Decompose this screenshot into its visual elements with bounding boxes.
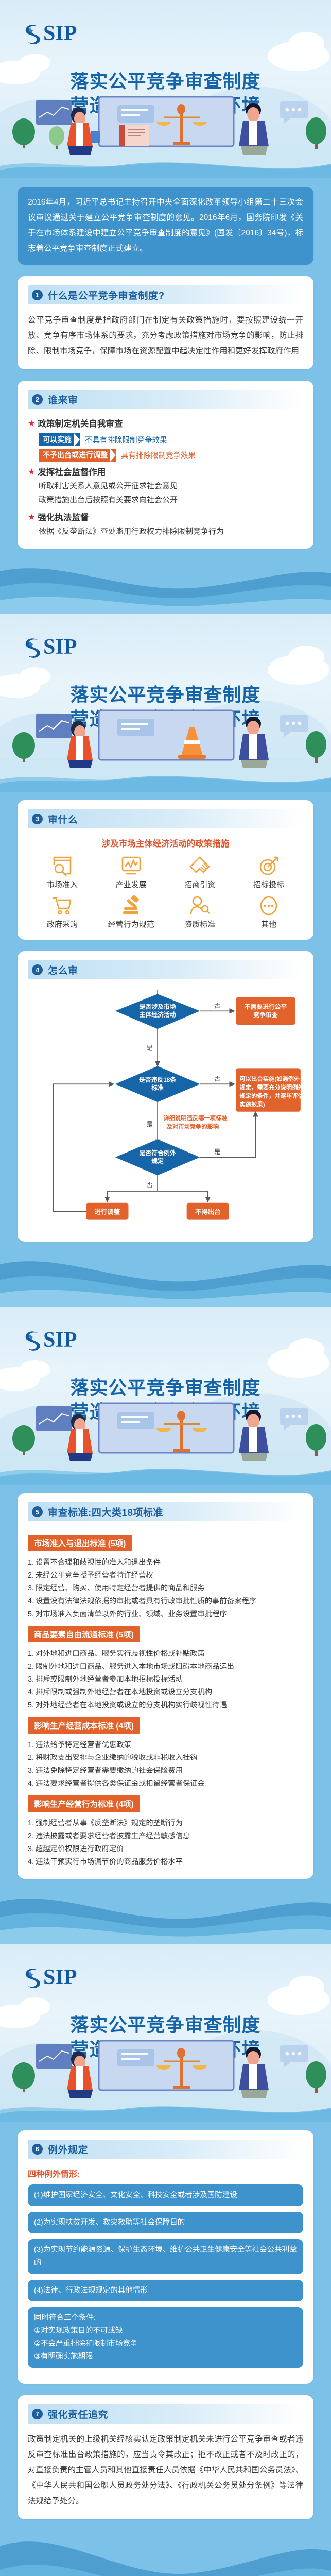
chat-bubble-icon bbox=[280, 101, 308, 124]
content-block-3: 5 审查标准:四大类18项标准 市场准入与退出标准 (5项) 1.设置不合理和歧… bbox=[0, 1461, 331, 1944]
star-item: ★ 政策制定机关自我审查 bbox=[28, 417, 303, 431]
icon-label: 招标投标 bbox=[253, 879, 284, 890]
ribbon-tag-allowed: 可以实施 bbox=[39, 433, 80, 446]
sub-line: 听取利害关系人意见或公开征求社会意见 bbox=[28, 479, 303, 493]
standards-item: 2.将财政支出安排与企业缴纳的税收或非税收入挂钩 bbox=[28, 1752, 303, 1765]
star-icon: ★ bbox=[28, 417, 35, 431]
flow-output-no-review-line2: 竞争审查 bbox=[253, 1012, 277, 1019]
section-header-1: 1 什么是公平竞争审查制度? bbox=[28, 285, 303, 304]
section-card-7: 7 强化责任追究 政策制定机关的上级机关经核实认定政策制定机关未进行公平竞争审查… bbox=[18, 2395, 313, 2519]
flow-output-adjust-label: 进行调整 bbox=[95, 1208, 120, 1215]
section-header-4: 4 怎么审 bbox=[28, 960, 303, 979]
flow-decision-1-line2: 主体经济活动 bbox=[140, 1011, 176, 1019]
ribbon-row: 不予出台或进行调整 具有排除限制竞争效果 bbox=[28, 449, 303, 462]
standards-item: 3.违法免除特定经营者需要缴纳的社会保险费用 bbox=[28, 1765, 303, 1777]
chart-window-icon bbox=[36, 1406, 72, 1431]
sip-s-logo-icon bbox=[24, 637, 42, 657]
section-title-7: 强化责任追究 bbox=[48, 2407, 108, 2421]
standards-item: 4.设置没有法律法规依据的审批或者具有行政审批性质的事前备案程序 bbox=[28, 1595, 303, 1608]
chart-window-icon bbox=[36, 714, 72, 738]
wave-divider-top-4 bbox=[0, 2098, 331, 2122]
standards-item: 2.未经公平竞争授予经营者特许经营权 bbox=[28, 1569, 303, 1582]
standards-item: 3.限定经营、购买、使用特定经营者提供的商品和服务 bbox=[28, 1582, 303, 1595]
icon-label: 资质标准 bbox=[184, 919, 215, 929]
content-block-2: 3 审什么 涉及市场主体经济活动的政策措施 市场准入 bbox=[0, 768, 331, 1307]
section-number-1: 1 bbox=[32, 290, 43, 300]
chat-bubble-icon bbox=[280, 1408, 308, 1430]
sip-s-logo-icon bbox=[24, 1330, 42, 1350]
standards-group-tag: 影响生产经营行为标准 (4项) bbox=[28, 1795, 140, 1812]
flow-decision-3-line1: 是否符合例外 bbox=[139, 1149, 176, 1157]
section-card-1: 1 什么是公平竞争审查制度? 公平竞争审查制度是指政府部门在制定有关政策措施时，… bbox=[18, 276, 313, 369]
section-header-6: 6 例外规定 bbox=[28, 2140, 303, 2159]
flow-label-yes-1: 是 bbox=[146, 1044, 152, 1052]
flow-output-forbid-label: 不得出台 bbox=[195, 1208, 220, 1215]
sub-line: 政策措施出台后按照有关要求向社会公开 bbox=[28, 493, 303, 507]
wave-divider-bottom-1 bbox=[0, 560, 331, 614]
content-block-4: 6 例外规定 四种例外情形: (1)维护国家经济安全、文化安全、科技安全或者涉及… bbox=[0, 2098, 331, 2576]
person-man-illustration bbox=[239, 103, 269, 155]
sip-logo-text: SIP bbox=[43, 636, 77, 658]
books-icon bbox=[119, 125, 149, 146]
flow-decision-1: 是否涉及市场 主体经济活动 bbox=[115, 994, 200, 1029]
flow-note-line2: 及对市场竞争的影响 bbox=[167, 1123, 219, 1130]
icon-label: 产业发展 bbox=[116, 879, 147, 890]
monitor-icon bbox=[99, 710, 234, 760]
flow-output-allow: 可以出台实施(如遇例外 规定，需要充分说明例外 规定的条件，并逐年评估 实施效果… bbox=[236, 1068, 303, 1111]
ribbon-desc-allowed: 不具有排除限制竞争效果 bbox=[85, 434, 167, 445]
section-header-2: 2 谁来审 bbox=[28, 390, 303, 409]
flow-label-no-1: 否 bbox=[214, 1002, 220, 1009]
section-3-caption: 涉及市场主体经济活动的政策措施 bbox=[28, 837, 303, 849]
standards-item: 4.违法要求经营者提供各类保证金或扣留经营者保证金 bbox=[28, 1777, 303, 1790]
chat-bubble-icon bbox=[280, 715, 308, 737]
flow-label-no-3: 否 bbox=[146, 1181, 152, 1189]
section-number-4: 4 bbox=[32, 964, 43, 975]
chart-window-icon bbox=[36, 100, 72, 125]
wave-divider-bottom-2 bbox=[0, 1253, 331, 1307]
standards-item: 4.违法干预实行市场调节价的商品服务价格水平 bbox=[28, 1856, 303, 1869]
icon-label: 政府采购 bbox=[47, 919, 78, 929]
section-number-2: 2 bbox=[32, 394, 43, 405]
section-number-5: 5 bbox=[32, 1506, 43, 1517]
person-man-illustration bbox=[239, 717, 269, 768]
icon-cell-procurement: 政府采购 bbox=[28, 895, 97, 929]
section-title-1: 什么是公平竞争审查制度? bbox=[48, 288, 165, 302]
section-header-7: 7 强化责任追究 bbox=[28, 2404, 303, 2424]
exception-caption: 四种例外情形: bbox=[28, 2167, 303, 2179]
standards-item: 2.限制外地和进口商品、服务进入本地市场或阻碍本地商品运出 bbox=[28, 1660, 303, 1673]
condition-item-1: ①对实现政策目的不可或缺 bbox=[34, 2325, 297, 2337]
flow-decision-1-line1: 是否涉及市场 bbox=[139, 1003, 176, 1010]
standards-group: 市场准入与退出标准 (5项) 1.设置不合理和歧视性的准入和退出条件 2.未经公… bbox=[28, 1530, 303, 1621]
wave-divider-top-2 bbox=[0, 768, 331, 792]
intro-card: 2016年4月，习近平总书记主持召开中央全面深化改革领导小组第二十三次会议审议通… bbox=[18, 187, 313, 265]
standards-list: 1.设置不合理和歧视性的准入和退出条件 2.未经公平竞争授予经营者特许经营权 3… bbox=[28, 1556, 303, 1621]
standards-item: 4.排斥限制或强制外地经营者在本地投资或设立分支机构 bbox=[28, 1686, 303, 1699]
wave-divider-top-1 bbox=[0, 155, 331, 178]
section-card-4: 4 怎么审 bbox=[18, 951, 313, 1242]
icon-cell-conduct-rules: 经营行为规范 bbox=[97, 895, 166, 929]
review-flowchart: 是否涉及市场 主体经济活动 否 是 不需要进行公平 竞争审查 是否违反18条 bbox=[28, 988, 303, 1231]
ribbon-desc-rejected: 具有排除限制竞争效果 bbox=[121, 450, 196, 461]
flow-output-allow-line4: 实施效果) bbox=[240, 1100, 265, 1108]
person-search-icon bbox=[188, 895, 211, 917]
flow-output-allow-line3: 规定的条件，并逐年评估 bbox=[240, 1092, 303, 1099]
flow-output-allow-line1: 可以出台实施(如遇例外 bbox=[240, 1075, 300, 1082]
star-item: ★ 强化执法监督 bbox=[28, 511, 303, 524]
standards-item: 2.违法披露或者要求经营者披露生产经营敏感信息 bbox=[28, 1830, 303, 1843]
condition-item-2: ②不会严重排除和限制市场竞争 bbox=[34, 2337, 297, 2350]
hero-title-line1: 落实公平竞争审查制度 bbox=[0, 69, 331, 93]
infographic-page: SIP 落实公平竞争审查制度 营造公平竞争市场环境 bbox=[0, 0, 331, 2576]
hero-banner-2: SIP 落实公平竞争审查制度 营造公平竞争市场环境 bbox=[0, 614, 331, 768]
chat-bubble-icon bbox=[280, 2045, 308, 2067]
exception-pill-4: (4)法律、行政法规规定的其他情形 bbox=[28, 2280, 303, 2301]
flow-decision-2: 是否违反18条 标准 bbox=[115, 1066, 200, 1102]
standards-list: 1.对外地和进口商品、服务实行歧视性价格或补贴政策 2.限制外地和进口商品、服务… bbox=[28, 1648, 303, 1712]
icon-cell-qualification: 资质标准 bbox=[166, 895, 235, 929]
standards-item: 5.对外地经营者在本地投资或设立的分支机构实行歧视性待遇 bbox=[28, 1699, 303, 1712]
section-card-6: 6 例外规定 四种例外情形: (1)维护国家经济安全、文化安全、科技安全或者涉及… bbox=[18, 2130, 313, 2384]
flow-output-forbid: 不得出台 bbox=[187, 1203, 229, 1220]
standards-group: 影响生产经营行为标准 (4项) 1.强制经营者从事《反垄断法》规定的垄断行为 2… bbox=[28, 1790, 303, 1869]
section-number-7: 7 bbox=[32, 2409, 43, 2419]
flow-decision-3: 是否符合例外 规定 bbox=[115, 1139, 200, 1175]
icon-cell-investment: 招商引资 bbox=[166, 855, 235, 890]
sip-logo-text: SIP bbox=[43, 1967, 77, 1988]
section-card-3: 3 审什么 涉及市场主体经济活动的政策措施 市场准入 bbox=[18, 800, 313, 940]
gavel-icon bbox=[120, 895, 143, 917]
flow-label-no-2: 否 bbox=[214, 1075, 220, 1082]
person-man-illustration bbox=[239, 2047, 269, 2098]
ribbon-row: 可以实施 不具有排除限制竞争效果 bbox=[28, 433, 303, 446]
sip-logo: SIP bbox=[24, 1967, 77, 1988]
standards-group-tag: 市场准入与退出标准 (5项) bbox=[28, 1535, 132, 1551]
standards-group-tag: 商品要素自由流通标准 (5项) bbox=[28, 1626, 140, 1642]
section-card-2: 2 谁来审 ★ 政策制定机关自我审查 可以实施 不具有排除限制竞争效果 不予出台… bbox=[18, 381, 313, 549]
section-header-3: 3 审什么 bbox=[28, 809, 303, 828]
exception-pill-1: (1)维护国家经济安全、文化安全、科技安全或者涉及国防建设 bbox=[28, 2184, 303, 2206]
wave-divider-top-3 bbox=[0, 1461, 331, 1485]
icon-label: 经营行为规范 bbox=[108, 919, 154, 929]
star-icon: ★ bbox=[28, 511, 35, 524]
standards-item: 5.对市场准入负面清单以外的行业、领域、业务设置审批程序 bbox=[28, 1608, 303, 1621]
icon-cell-industry-growth: 产业发展 bbox=[97, 855, 166, 890]
standards-item: 1.对外地和进口商品、服务实行歧视性价格或补贴政策 bbox=[28, 1648, 303, 1660]
section-1-body: 公平竞争审查制度是指政府部门在制定有关政策措施时，要按照建设统一开放、竞争有序市… bbox=[28, 313, 303, 359]
flow-output-adjust: 进行调整 bbox=[86, 1203, 128, 1220]
icon-cell-other: 其他 bbox=[234, 895, 303, 929]
ellipsis-circle-icon bbox=[257, 895, 280, 917]
flow-output-no-review: 不需要进行公平 竞争审查 bbox=[236, 997, 295, 1025]
icon-cell-market-entry: 市场准入 bbox=[28, 855, 97, 890]
flow-decision-3-line2: 规定 bbox=[151, 1158, 164, 1165]
flow-label-yes-2: 是 bbox=[146, 1121, 152, 1128]
icon-label: 其他 bbox=[261, 919, 276, 929]
sip-s-logo-icon bbox=[24, 1967, 42, 1988]
standards-item: 1.设置不合理和歧视性的准入和退出条件 bbox=[28, 1556, 303, 1569]
sip-logo: SIP bbox=[24, 636, 77, 658]
flowchart-svg: 是否涉及市场 主体经济活动 否 是 不需要进行公平 竞争审查 是否违反18条 bbox=[28, 988, 303, 1231]
hero-illustration-1 bbox=[0, 93, 331, 155]
star-item-label: 强化执法监督 bbox=[38, 511, 89, 524]
hero-illustration-4 bbox=[0, 2037, 331, 2098]
exception-pill-3: (3)为实现节约能源资源、保护生态环境、维护公共卫生健康安全等社会公共利益的 bbox=[28, 2239, 303, 2274]
market-entry-icon bbox=[51, 855, 74, 877]
standards-item: 1.违法给予特定经营者优惠政策 bbox=[28, 1739, 303, 1752]
star-item: ★ 发挥社会监督作用 bbox=[28, 466, 303, 479]
standards-group: 商品要素自由流通标准 (5项) 1.对外地和进口商品、服务实行歧视性价格或补贴政… bbox=[28, 1621, 303, 1712]
icon-cell-bidding: 招标投标 bbox=[234, 855, 303, 890]
intro-text: 2016年4月，习近平总书记主持召开中央全面深化改革领导小组第二十三次会议审议通… bbox=[28, 195, 303, 257]
standards-group: 影响生产经营成本标准 (4项) 1.违法给予特定经营者优惠政策 2.将财政支出安… bbox=[28, 1712, 303, 1790]
conditions-title: 同时符合三个条件: bbox=[34, 2312, 297, 2325]
wave-divider-bottom-4 bbox=[0, 2531, 331, 2576]
section-title-6: 例外规定 bbox=[48, 2142, 88, 2156]
flow-decision-2-line1: 是否违反18条 bbox=[138, 1076, 176, 1083]
sip-logo: SIP bbox=[24, 1329, 77, 1351]
section-title-2: 谁来审 bbox=[48, 393, 78, 406]
flow-output-allow-line2: 规定，需要充分说明例外 bbox=[240, 1084, 303, 1091]
industry-growth-chart-icon bbox=[120, 855, 143, 877]
section-title-5: 审查标准:四大类18项标准 bbox=[48, 1505, 163, 1519]
hero-title-line1: 落实公平竞争审查制度 bbox=[0, 683, 331, 707]
sip-logo-text: SIP bbox=[43, 1329, 77, 1351]
section-7-body: 政策制定机关的上级机关经核实认定政策制定机关未进行公平竞争审查或者违反审查标准出… bbox=[28, 2432, 303, 2509]
flow-label-yes-3: 是 bbox=[214, 1148, 220, 1156]
ribbon-tag-rejected: 不予出台或进行调整 bbox=[39, 449, 116, 462]
hero-banner-1: SIP 落实公平竞争审查制度 营造公平竞争市场环境 bbox=[0, 0, 331, 155]
wave-divider-bottom-3 bbox=[0, 1890, 331, 1944]
hero-illustration-2 bbox=[0, 706, 331, 768]
flow-note-line1: 详细说明违反哪一项标准 bbox=[163, 1114, 227, 1122]
standards-item: 3.排斥或限制外地经营者参加本地招标投标活动 bbox=[28, 1673, 303, 1686]
content-block-1: 2016年4月，习近平总书记主持召开中央全面深化改革领导小组第二十三次会议审议通… bbox=[0, 155, 331, 614]
shopping-cart-icon bbox=[51, 895, 74, 917]
section-title-3: 审什么 bbox=[48, 812, 78, 826]
section-title-4: 怎么审 bbox=[48, 963, 78, 977]
section-header-5: 5 审查标准:四大类18项标准 bbox=[28, 1502, 303, 1521]
sub-line: 依据《反垄断法》查处滥用行政权力排除限制竞争行为 bbox=[28, 524, 303, 538]
condition-item-3: ③有明确实施期限 bbox=[34, 2350, 297, 2363]
target-arrow-icon bbox=[257, 855, 280, 877]
hero-title-line1: 落实公平竞争审查制度 bbox=[0, 1376, 331, 1400]
hero-banner-4: SIP 落实公平竞争审查制度 营造公平竞争市场环境 bbox=[0, 1944, 331, 2098]
sip-s-logo-icon bbox=[24, 23, 42, 44]
icon-label: 招商引资 bbox=[184, 879, 215, 890]
standards-list: 1.违法给予特定经营者优惠政策 2.将财政支出安排与企业缴纳的税收或非税收入挂钩… bbox=[28, 1739, 303, 1790]
section-number-6: 6 bbox=[32, 2144, 43, 2155]
exception-pill-2: (2)为实现扶贫开发、救灾救助等社会保障目的 bbox=[28, 2212, 303, 2233]
exception-conditions-pill: 同时符合三个条件: ①对实现政策目的不可或缺 ②不会严重排除和限制市场竞争 ③有… bbox=[28, 2307, 303, 2368]
hero-banner-3: SIP 落实公平竞争审查制度 营造公平竞争市场环境 bbox=[0, 1307, 331, 1461]
flow-decision-2-line2: 标准 bbox=[151, 1084, 164, 1092]
chart-window-icon bbox=[36, 2044, 72, 2069]
section-number-3: 3 bbox=[32, 814, 43, 824]
handshake-icon bbox=[188, 855, 211, 877]
icon-label: 市场准入 bbox=[47, 879, 78, 890]
star-item-label: 政策制定机关自我审查 bbox=[38, 417, 123, 431]
star-item-label: 发挥社会监督作用 bbox=[38, 466, 106, 479]
hero-title-line1: 落实公平竞争审查制度 bbox=[0, 2013, 331, 2037]
policy-icon-grid: 市场准入 产业发展 bbox=[28, 855, 303, 929]
flow-output-no-review-line1: 不需要进行公平 bbox=[245, 1003, 287, 1010]
standards-item: 3.超越定价权限进行政府定价 bbox=[28, 1843, 303, 1856]
sip-logo-text: SIP bbox=[43, 23, 77, 44]
sip-logo: SIP bbox=[24, 23, 77, 44]
standards-group-tag: 影响生产经营成本标准 (4项) bbox=[28, 1717, 140, 1734]
standards-item: 1.强制经营者从事《反垄断法》规定的垄断行为 bbox=[28, 1817, 303, 1830]
person-man-illustration bbox=[239, 1410, 269, 1461]
star-icon: ★ bbox=[28, 466, 35, 479]
hero-illustration-3 bbox=[0, 1399, 331, 1461]
section-card-5: 5 审查标准:四大类18项标准 市场准入与退出标准 (5项) 1.设置不合理和歧… bbox=[18, 1493, 313, 1879]
standards-list: 1.强制经营者从事《反垄断法》规定的垄断行为 2.违法披露或者要求经营者披露生产… bbox=[28, 1817, 303, 1869]
